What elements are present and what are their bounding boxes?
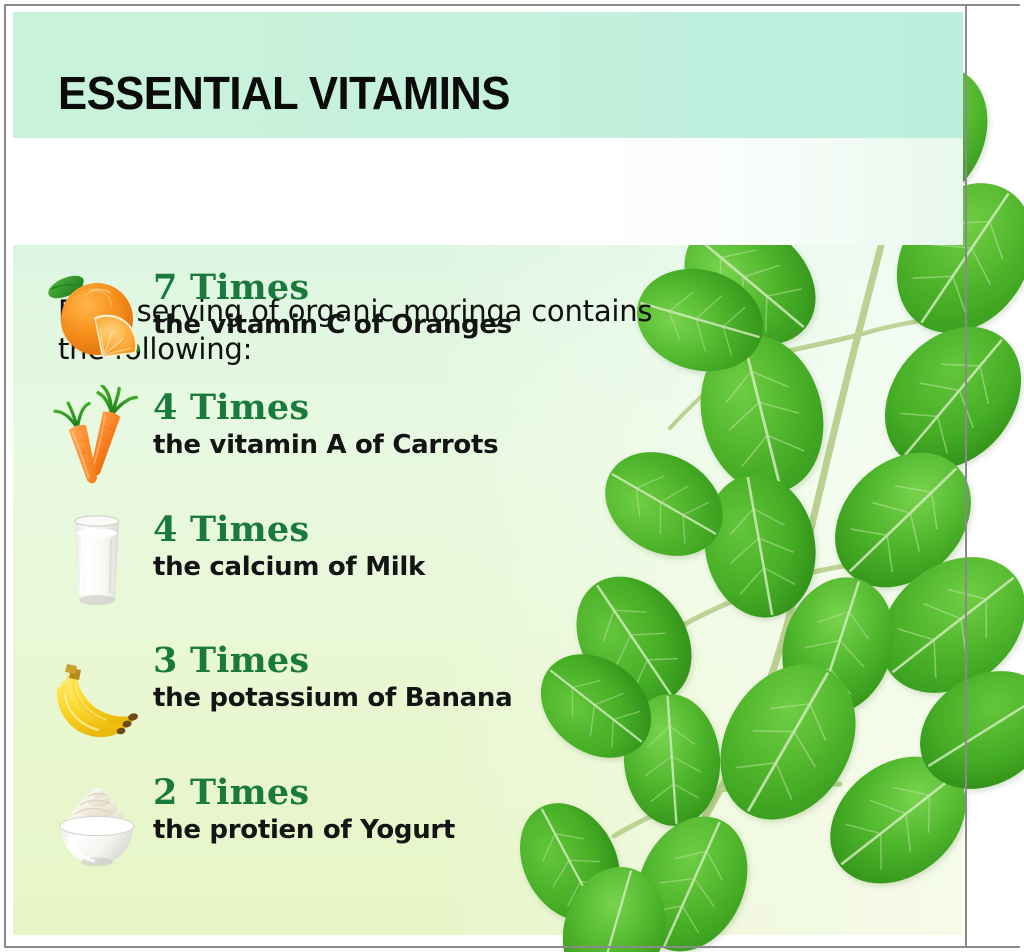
infographic-poster: ESSENTIAL VITAMINS Each serving of organ… — [0, 0, 1024, 952]
benefit-row-carrots: 4 Times the vitamin A of Carrots — [13, 385, 633, 505]
yogurt-bowl-icon — [41, 770, 153, 882]
subtitle-band: Each serving of organic moringa contains… — [13, 138, 963, 245]
frame-border-bottom — [4, 946, 1020, 948]
orange-icon — [41, 265, 153, 377]
frame-border-top — [4, 4, 1020, 6]
benefit-multiplier: 2 Times — [153, 774, 623, 812]
title-band: ESSENTIAL VITAMINS — [13, 12, 963, 138]
benefit-description: the vitamin A of Carrots — [153, 431, 623, 461]
frame-border-right — [965, 4, 967, 948]
benefit-multiplier: 4 Times — [153, 389, 623, 427]
benefit-multiplier: 4 Times — [153, 511, 623, 549]
benefit-text-milk: 4 Times the calcium of Milk — [153, 511, 623, 583]
benefit-row-milk: 4 Times the calcium of Milk — [13, 507, 633, 627]
benefit-row-oranges: 7 Times the vitamin C of Oranges — [13, 265, 633, 385]
benefit-description: the calcium of Milk — [153, 553, 623, 583]
benefit-multiplier: 7 Times — [153, 269, 623, 307]
benefit-description: the potassium of Banana — [153, 684, 623, 714]
benefit-text-banana: 3 Times the potassium of Banana — [153, 642, 623, 714]
benefit-description: the protien of Yogurt — [153, 816, 623, 846]
benefit-multiplier: 3 Times — [153, 642, 623, 680]
benefit-row-yogurt: 2 Times the protien of Yogurt — [13, 770, 633, 890]
benefit-text-oranges: 7 Times the vitamin C of Oranges — [153, 269, 623, 341]
carrot-icon — [41, 385, 153, 497]
milk-glass-icon — [41, 507, 153, 619]
frame-border-left — [4, 4, 6, 948]
benefit-row-banana: 3 Times the potassium of Banana — [13, 638, 633, 758]
banana-icon — [41, 638, 153, 750]
benefit-text-yogurt: 2 Times the protien of Yogurt — [153, 774, 623, 846]
benefits-list: 7 Times the vitamin C of Oranges — [13, 245, 653, 935]
benefit-description: the vitamin C of Oranges — [153, 311, 623, 341]
page-title: ESSENTIAL VITAMINS — [58, 70, 510, 116]
benefit-text-carrots: 4 Times the vitamin A of Carrots — [153, 389, 623, 461]
